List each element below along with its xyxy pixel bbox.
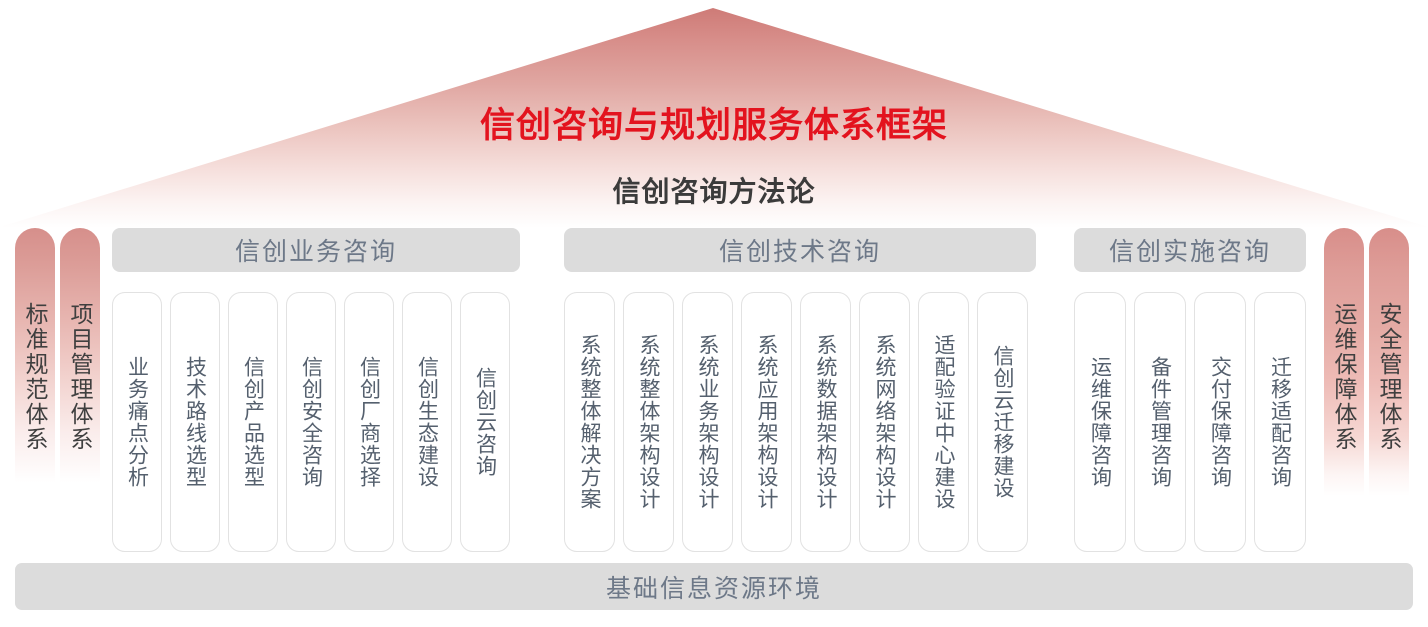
item-card[interactable]: 备件管理咨询 [1134, 292, 1186, 552]
item-label: 信创安全咨询 [297, 356, 326, 488]
group-business-consulting: 信创业务咨询 业务痛点分析 技术路线选型 信创产品选型 信创安全咨询 信创厂商选… [112, 228, 520, 272]
item-label: 系统整体解决方案 [575, 334, 604, 510]
item-card[interactable]: 信创云迁移建设 [977, 292, 1028, 552]
group-header-label: 信创技术咨询 [564, 228, 1036, 272]
item-label: 系统业务架构设计 [693, 334, 722, 510]
item-card[interactable]: 业务痛点分析 [112, 292, 162, 552]
pillar-label: 安全管理体系 [1369, 302, 1409, 452]
item-label: 系统网络架构设计 [870, 334, 899, 510]
item-label: 信创厂商选择 [355, 356, 384, 488]
item-label: 系统整体架构设计 [634, 334, 663, 510]
item-label: 信创生态建设 [413, 356, 442, 488]
group-header-label: 信创实施咨询 [1074, 228, 1306, 272]
foundation-bar: 基础信息资源环境 [15, 563, 1413, 610]
item-card[interactable]: 适配验证中心建设 [918, 292, 969, 552]
pillar-label: 项目管理体系 [60, 302, 100, 452]
pillar-label: 标准规范体系 [15, 302, 55, 452]
pillar-security-management: 安全管理体系 [1369, 228, 1409, 496]
group-item-list: 业务痛点分析 技术路线选型 信创产品选型 信创安全咨询 信创厂商选择 信创生态建… [112, 292, 520, 552]
item-label: 交付保障咨询 [1206, 356, 1235, 488]
item-card[interactable]: 系统数据架构设计 [800, 292, 851, 552]
item-card[interactable]: 信创安全咨询 [286, 292, 336, 552]
item-label: 系统数据架构设计 [811, 334, 840, 510]
item-label: 信创产品选型 [239, 356, 268, 488]
item-label: 技术路线选型 [181, 356, 210, 488]
group-implementation-consulting: 信创实施咨询 运维保障咨询 备件管理咨询 交付保障咨询 迁移适配咨询 [1074, 228, 1306, 272]
item-card[interactable]: 系统网络架构设计 [859, 292, 910, 552]
item-label: 信创云迁移建设 [988, 345, 1017, 499]
item-card[interactable]: 运维保障咨询 [1074, 292, 1126, 552]
item-card[interactable]: 技术路线选型 [170, 292, 220, 552]
item-label: 信创云咨询 [471, 367, 500, 477]
diagram-title: 信创咨询与规划服务体系框架 [0, 97, 1428, 148]
group-technical-consulting: 信创技术咨询 系统整体解决方案 系统整体架构设计 系统业务架构设计 系统应用架构… [564, 228, 1036, 272]
item-card[interactable]: 信创厂商选择 [344, 292, 394, 552]
item-label: 系统应用架构设计 [752, 334, 781, 510]
pillar-project-management: 项目管理体系 [60, 228, 100, 496]
diagram-canvas: 信创咨询与规划服务体系框架 信创咨询方法论 标准规范体系 项目管理体系 运维保障… [0, 0, 1428, 627]
item-card[interactable]: 系统业务架构设计 [682, 292, 733, 552]
diagram-subtitle: 信创咨询方法论 [0, 170, 1428, 210]
item-card[interactable]: 信创生态建设 [402, 292, 452, 552]
item-card[interactable]: 信创云咨询 [460, 292, 510, 552]
item-card[interactable]: 交付保障咨询 [1194, 292, 1246, 552]
item-label: 运维保障咨询 [1086, 356, 1115, 488]
pillar-standard-spec: 标准规范体系 [15, 228, 55, 496]
pillar-ops-guarantee: 运维保障体系 [1324, 228, 1364, 496]
group-item-list: 运维保障咨询 备件管理咨询 交付保障咨询 迁移适配咨询 [1074, 292, 1306, 552]
item-label: 迁移适配咨询 [1266, 356, 1295, 488]
group-item-list: 系统整体解决方案 系统整体架构设计 系统业务架构设计 系统应用架构设计 系统数据… [564, 292, 1036, 552]
group-header-label: 信创业务咨询 [112, 228, 520, 272]
pillar-label: 运维保障体系 [1324, 302, 1364, 452]
item-card[interactable]: 迁移适配咨询 [1254, 292, 1306, 552]
item-card[interactable]: 系统应用架构设计 [741, 292, 792, 552]
item-label: 业务痛点分析 [123, 356, 152, 488]
item-label: 备件管理咨询 [1146, 356, 1175, 488]
item-label: 适配验证中心建设 [929, 334, 958, 510]
item-card[interactable]: 系统整体架构设计 [623, 292, 674, 552]
item-card[interactable]: 信创产品选型 [228, 292, 278, 552]
item-card[interactable]: 系统整体解决方案 [564, 292, 615, 552]
